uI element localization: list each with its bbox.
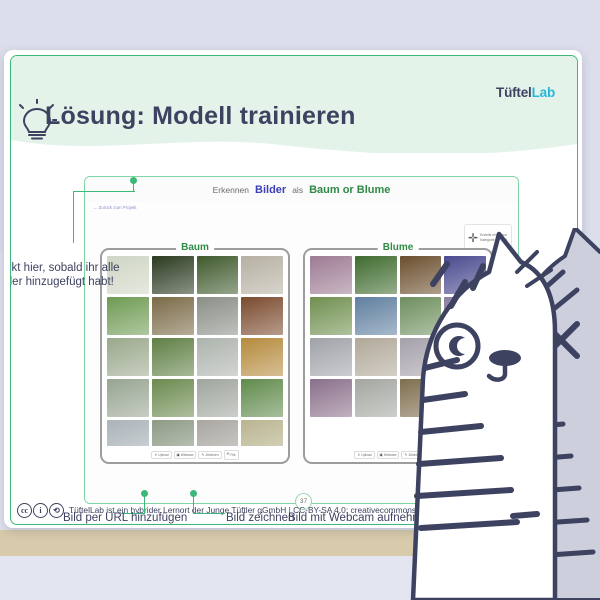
class-thumbnail[interactable] [400,297,442,335]
upload-tool-button[interactable]: ⇪Upload [354,451,374,459]
class-thumbnail[interactable] [152,338,194,376]
pencil-tool-button[interactable]: ✎Zeichnen [198,451,221,459]
slide-inner-frame: Lösung: Modell trainieren TüftelLab Erke… [10,55,578,525]
callout-click-when-done: Klickt hier, sobald ihr alle Bilder hinz… [10,261,128,290]
webcam-tool-button[interactable]: ▣Webcam [377,451,400,459]
teachable-machine-window: Erkennen Bilder als Baum or Blume ← Zurü… [84,176,519,504]
upload-tool-button[interactable]: ⇪Upload [151,451,171,459]
file-icon: 🗎 [227,452,230,458]
tool-label: File [230,453,235,457]
class-thumbnail[interactable] [355,379,397,417]
pencil-icon: ✎ [404,453,407,457]
pencil-icon: ✎ [201,453,204,457]
sa-icon: ⟲ [49,503,64,518]
class-thumbnail[interactable] [355,256,397,294]
class-thumbnail[interactable] [310,256,352,294]
class-thumbnail-grid-blume [310,256,486,446]
callout-dot-top [130,177,137,184]
tool-label: File [433,453,438,457]
class-thumbnail[interactable] [400,338,442,376]
by-icon: i [33,503,48,518]
class-thumbnail[interactable] [197,256,239,294]
class-thumbnail[interactable] [241,379,283,417]
page-title: Lösung: Modell trainieren [45,102,356,131]
tm-body: ← Zurück zum Projekt ✛ Erstelle eine neu… [85,202,518,503]
tm-word-bilder: Bilder [255,184,286,196]
class-thumbnail[interactable] [241,338,283,376]
back-to-project-link[interactable]: ← Zurück zum Projekt [93,205,136,210]
class-thumbnail[interactable] [400,256,442,294]
webcam-icon: ▣ [380,453,383,457]
tool-label: Webcam [384,453,397,457]
callout-line-top-h [73,191,135,192]
webcam-icon: ▣ [177,453,180,457]
file-icon: 🗎 [430,452,433,458]
upload-icon: ⇪ [154,453,157,457]
cc-license-icons: cc i ⟲ [17,503,64,518]
class-thumbnail[interactable] [197,338,239,376]
class-name-baum: Baum [176,242,214,253]
class-thumbnail[interactable] [310,338,352,376]
tool-label: Upload [361,453,371,457]
slide-card: Lösung: Modell trainieren TüftelLab Erke… [4,50,582,528]
upload-icon: ⇪ [357,453,360,457]
class-name-blume: Blume [378,242,419,253]
class-thumbnail[interactable] [152,420,194,446]
class-thumbnail[interactable] [107,338,149,376]
class-thumbnail[interactable] [310,297,352,335]
class-thumbnail[interactable] [444,338,486,376]
class-thumbnail[interactable] [400,379,442,417]
webcam-tool-button[interactable]: ▣Webcam [174,451,197,459]
tool-label: Zeichnen [205,453,218,457]
tm-word-classes: Baum or Blume [309,184,390,196]
pencil-tool-button[interactable]: ✎Zeichnen [401,451,424,459]
cc-icon: cc [17,503,32,518]
class-thumbnail[interactable] [241,297,283,335]
callout-line-top-v2 [133,183,134,192]
file-tool-button[interactable]: 🗎File [427,450,442,460]
class-toolbar-baum: ⇪Upload▣Webcam✎Zeichnen🗎File [102,449,288,460]
class-thumbnail[interactable] [152,256,194,294]
logo-part-tuftel: Tüftel [496,85,532,100]
class-thumbnail[interactable] [197,297,239,335]
class-thumbnail[interactable] [241,420,283,446]
class-panel-baum[interactable]: Baum ⇪Upload▣Webcam✎Zeichnen🗎File [100,248,290,464]
callout-line-draw-h [193,513,225,514]
class-thumbnail[interactable] [444,256,486,294]
tm-word-erkennen: Erkennen [213,185,249,195]
tuftellab-logo: TüftelLab [496,85,555,100]
logo-part-lab: Lab [532,85,555,100]
file-tool-button[interactable]: 🗎File [224,450,239,460]
class-thumbnail[interactable] [197,420,239,446]
class-thumbnail[interactable] [107,297,149,335]
callout-dot-draw [190,490,197,497]
tool-label: Webcam [181,453,194,457]
class-thumbnail[interactable] [107,379,149,417]
class-thumbnail[interactable] [444,379,486,417]
header-wave-divider [11,138,577,164]
class-thumbnail[interactable] [152,379,194,417]
class-thumbnail[interactable] [444,297,486,335]
class-panel-blume[interactable]: Blume ⇪Upload▣Webcam✎Zeichnen🗎File [303,248,493,464]
callout-line-draw-v [193,494,194,514]
class-thumbnail[interactable] [197,379,239,417]
class-thumbnail[interactable] [355,297,397,335]
class-toolbar-blume: ⇪Upload▣Webcam✎Zeichnen🗎File [305,449,491,460]
teal-blob [395,480,600,600]
callout-line-top-v1 [73,191,74,243]
tm-header-bar: Erkennen Bilder als Baum or Blume [85,177,518,203]
plus-icon: ✛ [468,232,478,244]
callout-dot-url [141,490,148,497]
class-thumbnail[interactable] [241,256,283,294]
callout-add-image-url: Bild per URL hinzufügen [63,511,187,525]
tool-label: Zeichnen [408,453,421,457]
class-thumbnail-grid-baum [107,256,283,446]
tm-word-als: als [292,185,303,195]
class-thumbnail[interactable] [107,420,149,446]
add-class-label: Erstelle eine neue Kategorie ('Label') [480,233,508,242]
class-thumbnail[interactable] [152,297,194,335]
class-thumbnail[interactable] [310,379,352,417]
tool-label: Upload [158,453,168,457]
class-thumbnail[interactable] [355,338,397,376]
callout-draw-image: Bild zeichnen [226,511,294,525]
